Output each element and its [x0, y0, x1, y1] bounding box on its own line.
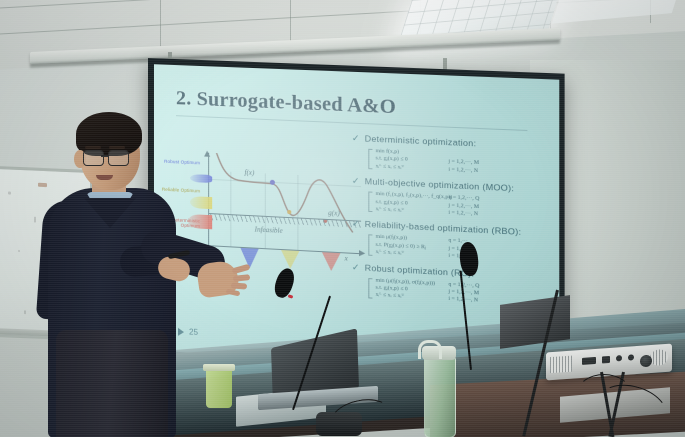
check-icon: ✓	[352, 219, 360, 231]
formula-right: i = 1,2,···, N	[448, 210, 509, 221]
formula-moo: min (f₁(x,p), f₂(x,p),···, f_q(x,p))q = …	[368, 191, 559, 223]
trousers	[56, 330, 168, 437]
robust-optimum-point	[270, 180, 275, 185]
mouth	[96, 175, 113, 180]
reliable-optimum-label: Reliable Optimum	[154, 186, 200, 194]
constraint-label: g(x)	[328, 209, 340, 218]
bottle-handle	[418, 340, 442, 359]
formula-deterministic: min f(x,p) s.t. gⱼ(x,p) ≤ 0j = 1,2,···, …	[368, 148, 559, 179]
eyebrow	[109, 146, 125, 149]
triangle-icon	[178, 327, 184, 335]
slide-number-text: 25	[189, 327, 198, 337]
infeasible-label: Infeasible	[255, 225, 283, 235]
water-bottle	[424, 356, 456, 437]
curve-label: f(x)	[244, 168, 254, 177]
page-title: 2. Surrogate-based A&O	[176, 87, 542, 125]
check-icon: ✓	[352, 262, 360, 274]
formula-right: i = 1,2,···, N	[448, 166, 509, 176]
slide-number: 25	[178, 327, 198, 337]
finger	[231, 282, 247, 289]
presentation-photo: 2. Surrogate-based A&O x	[0, 0, 685, 437]
check-icon: ✓	[352, 176, 360, 188]
drink-cup	[206, 368, 232, 408]
robust-optimum-label: Robust Optimum	[154, 158, 200, 166]
bullet-label: Deterministic optimization:	[365, 133, 477, 149]
cup-lid	[203, 364, 235, 371]
eyeglasses-bridge	[101, 155, 108, 157]
reliable-distribution-triangle	[281, 250, 299, 269]
eyebrow	[85, 146, 101, 149]
deterministic-distribution-triangle	[322, 252, 340, 271]
eyeglasses-lens	[83, 150, 104, 166]
check-icon: ✓	[352, 133, 360, 145]
eyeglasses-lens	[108, 150, 129, 166]
bullet-list: ✓ Deterministic optimization: min f(x,p)…	[352, 131, 559, 317]
reliable-optimum-point	[287, 210, 291, 214]
